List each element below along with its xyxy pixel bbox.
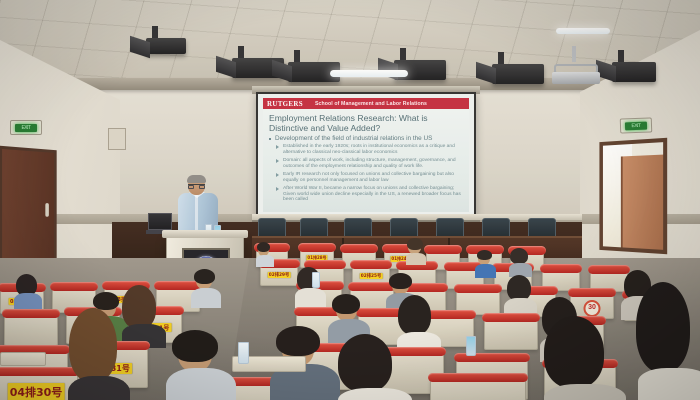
seat[interactable]	[430, 376, 526, 400]
slide-bullet: Early IR research not only focused on un…	[283, 172, 463, 183]
seat-rail	[482, 313, 540, 322]
slide-bullet: Established in the early 1920s; roots in…	[283, 144, 463, 155]
audience-member	[408, 240, 426, 262]
seat-rail	[428, 373, 528, 382]
seat[interactable]: 04排30号	[0, 370, 78, 400]
folding-desk	[0, 352, 46, 366]
slide-title: Employment Relations Research: What is D…	[263, 109, 469, 135]
door-leaf	[621, 155, 663, 255]
hair	[510, 248, 528, 264]
hair	[332, 294, 360, 314]
slide-bullet: Development of the field of industrial r…	[275, 135, 463, 142]
slide-school-name: School of Management and Labor Relations	[315, 101, 427, 107]
slide-brand-bar: RUTGERS School of Management and Labor R…	[263, 98, 469, 109]
audience-member	[128, 290, 168, 344]
hair	[338, 334, 392, 392]
torso	[256, 255, 274, 267]
seat-rail	[0, 367, 80, 376]
hair	[477, 250, 492, 260]
stage-chair	[344, 218, 372, 238]
water-bottle	[312, 272, 320, 288]
hair	[398, 295, 431, 335]
hair	[389, 273, 412, 289]
audience-member	[512, 250, 532, 274]
rutgers-wordmark: RUTGERS	[267, 100, 303, 108]
left-wall-door[interactable]	[0, 146, 57, 269]
seat-rail	[340, 244, 378, 253]
stage-chair	[258, 218, 286, 238]
right-wall-door[interactable]	[599, 138, 667, 254]
hair	[172, 330, 218, 362]
audience-member	[348, 340, 412, 400]
wall-mounted-control-box[interactable]	[108, 128, 126, 150]
torso	[68, 376, 130, 400]
audience-member	[556, 324, 626, 400]
audience-member	[510, 278, 536, 312]
seat-rail	[2, 309, 60, 318]
seat-rail	[298, 243, 336, 252]
torso	[475, 264, 496, 278]
projector-mount-pole	[572, 46, 576, 62]
seat-label: 02排29号	[268, 272, 291, 278]
seat-rail	[50, 282, 98, 291]
hair	[194, 269, 215, 284]
hair	[636, 282, 690, 372]
seat[interactable]	[484, 316, 538, 350]
torso	[544, 384, 626, 400]
seat-rail	[540, 264, 582, 273]
seat-rail	[454, 284, 502, 293]
lectern-top	[162, 230, 248, 238]
audience-member	[178, 336, 236, 400]
stage-chair	[390, 218, 418, 238]
hair	[69, 308, 117, 382]
exit-sign-lamp: EXIT	[625, 121, 647, 130]
lecture-hall-photo: EXIT EXIT RUTGERS School of Management a…	[0, 0, 700, 400]
seat-label: 04排30号	[8, 383, 65, 400]
audience-member	[78, 314, 132, 400]
hair	[257, 242, 270, 252]
seat-rail	[424, 245, 462, 254]
audience-member	[18, 276, 42, 306]
torso	[295, 288, 326, 308]
laptop-screen	[148, 213, 172, 230]
seat-label: 02排25号	[360, 273, 383, 279]
hair	[407, 238, 423, 250]
stage-chair	[482, 218, 510, 238]
door-handle	[45, 203, 49, 217]
stage-chair	[528, 218, 556, 238]
fluorescent-tube-light	[330, 70, 408, 77]
projector-body	[552, 72, 600, 84]
presentation-slide: RUTGERS School of Management and Labor R…	[263, 98, 469, 212]
fluorescent-tube-light	[556, 28, 610, 34]
stage-chair	[436, 218, 464, 238]
ceiling-spotlight	[146, 38, 186, 54]
slide-bullet-list: Development of the field of industrial r…	[263, 135, 469, 203]
torso	[338, 388, 412, 400]
audience-member	[478, 252, 496, 274]
exit-sign-lamp: EXIT	[15, 124, 37, 132]
torso	[406, 253, 426, 265]
water-bottle	[238, 342, 249, 364]
exit-sign-right: EXIT	[620, 117, 653, 133]
hair	[276, 326, 320, 356]
slide-bullet: After World War II, became a narrow focu…	[283, 186, 463, 203]
projection-screen: RUTGERS School of Management and Labor R…	[256, 92, 476, 218]
water-bottle	[466, 336, 476, 356]
hair	[93, 292, 119, 310]
slide-bullet: Domain: all aspects of work, including s…	[283, 158, 463, 169]
ceiling-mounted-projector	[552, 60, 600, 82]
torso	[191, 288, 221, 308]
seat-rail	[588, 265, 630, 274]
ceiling-spotlight	[492, 64, 544, 84]
ceiling-spotlight	[612, 62, 656, 82]
presenter-hair	[187, 175, 206, 183]
stage-chair	[300, 218, 328, 238]
seat-rail	[350, 260, 392, 269]
seat-rail	[568, 288, 616, 297]
exit-sign-left: EXIT	[10, 120, 42, 135]
audience-member	[196, 272, 220, 302]
torso	[638, 368, 700, 400]
audience-member	[258, 244, 274, 264]
presenter-glasses	[188, 184, 205, 189]
torso	[166, 368, 236, 400]
hair	[544, 316, 604, 388]
audience-member	[646, 290, 700, 400]
seat[interactable]	[4, 312, 58, 346]
